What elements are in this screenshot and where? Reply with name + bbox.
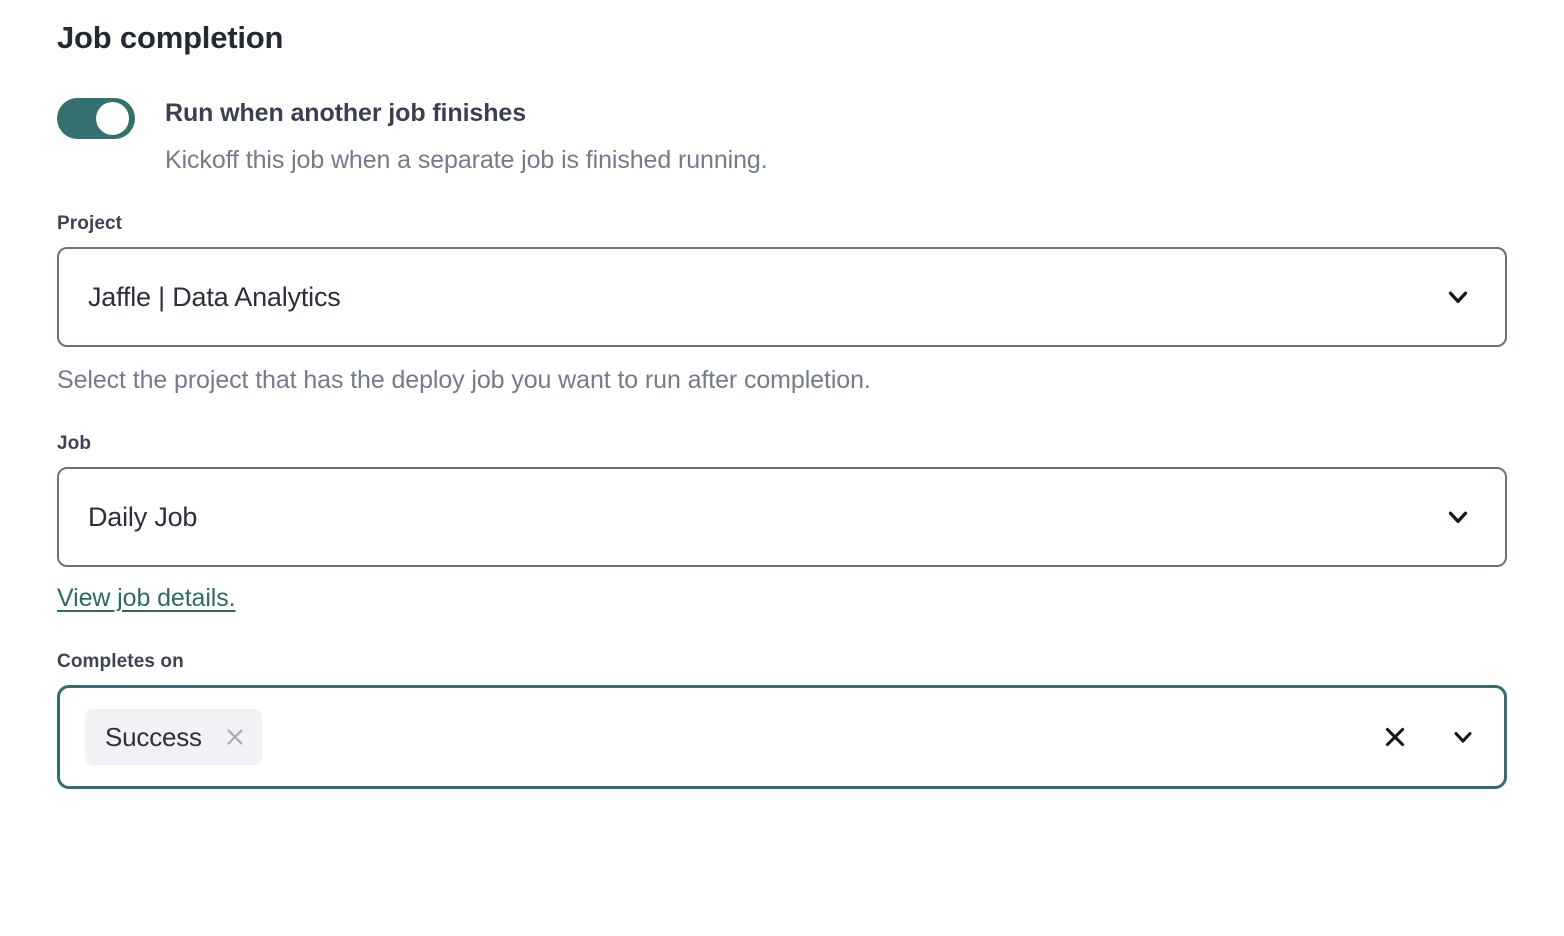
- run-when-another-job-finishes-row: Run when another job finishes Kickoff th…: [57, 97, 1507, 177]
- chip-success[interactable]: Success: [85, 709, 262, 765]
- job-select-value: Daily Job: [59, 500, 197, 534]
- project-field-group: Project Jaffle | Data Analytics Select t…: [57, 212, 1507, 397]
- page-title: Job completion: [57, 0, 1507, 57]
- chevron-down-icon[interactable]: [1443, 282, 1473, 312]
- project-helper-text: Select the project that has the deploy j…: [57, 363, 1507, 397]
- close-icon[interactable]: [1381, 723, 1409, 751]
- completes-on-label: Completes on: [57, 650, 1507, 674]
- multiselect-actions: [1381, 723, 1477, 751]
- toggle-text-block: Run when another job finishes Kickoff th…: [165, 97, 768, 177]
- toggle-knob: [96, 102, 129, 135]
- completes-on-field-group: Completes on Success: [57, 650, 1507, 789]
- job-completion-panel: Job completion Run when another job fini…: [0, 0, 1564, 936]
- job-field-group: Job Daily Job View job details.: [57, 432, 1507, 615]
- project-select-value: Jaffle | Data Analytics: [59, 280, 341, 314]
- completes-on-multiselect[interactable]: Success: [57, 685, 1507, 789]
- view-job-details-link[interactable]: View job details.: [57, 581, 236, 615]
- job-select[interactable]: Daily Job: [57, 467, 1507, 567]
- run-when-another-job-finishes-toggle[interactable]: [57, 98, 135, 139]
- close-icon[interactable]: [224, 726, 246, 748]
- project-label: Project: [57, 212, 1507, 236]
- chevron-down-icon[interactable]: [1449, 723, 1477, 751]
- toggle-label: Run when another job finishes: [165, 97, 768, 129]
- toggle-description: Kickoff this job when a separate job is …: [165, 143, 768, 177]
- chip-label: Success: [105, 721, 202, 753]
- job-label: Job: [57, 432, 1507, 456]
- project-select[interactable]: Jaffle | Data Analytics: [57, 247, 1507, 347]
- chevron-down-icon[interactable]: [1443, 502, 1473, 532]
